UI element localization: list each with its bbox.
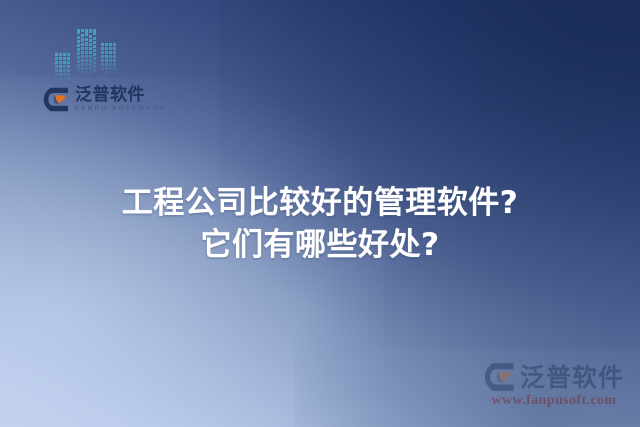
brand-logo: 泛普软件 FANPU SOFTWARE xyxy=(43,87,166,113)
brand-name-en: FANPU SOFTWARE xyxy=(75,106,166,113)
background-sheen-dark xyxy=(218,0,640,350)
fanpu-logo-icon xyxy=(43,87,70,112)
watermark: 泛普软件 www.fanpusoft.com xyxy=(484,362,624,409)
pixel-city-skyline-icon xyxy=(55,29,117,81)
watermark-lockup: 泛普软件 xyxy=(484,362,624,392)
brand-name-cn: 泛普软件 xyxy=(75,87,166,104)
headline-line-1: 工程公司比较好的管理软件? xyxy=(24,183,616,225)
watermark-name-cn: 泛普软件 xyxy=(520,365,624,390)
promo-banner: 泛普软件 FANPU SOFTWARE 工程公司比较好的管理软件? 它们有哪些好… xyxy=(0,0,640,427)
headline-line-2: 它们有哪些好处? xyxy=(24,225,616,267)
brand-wordmark: 泛普软件 FANPU SOFTWARE xyxy=(75,87,166,113)
headline: 工程公司比较好的管理软件? 它们有哪些好处? xyxy=(0,183,640,267)
watermark-url: www.fanpusoft.com xyxy=(484,393,624,409)
fanpu-logo-watermark-icon xyxy=(484,362,516,392)
